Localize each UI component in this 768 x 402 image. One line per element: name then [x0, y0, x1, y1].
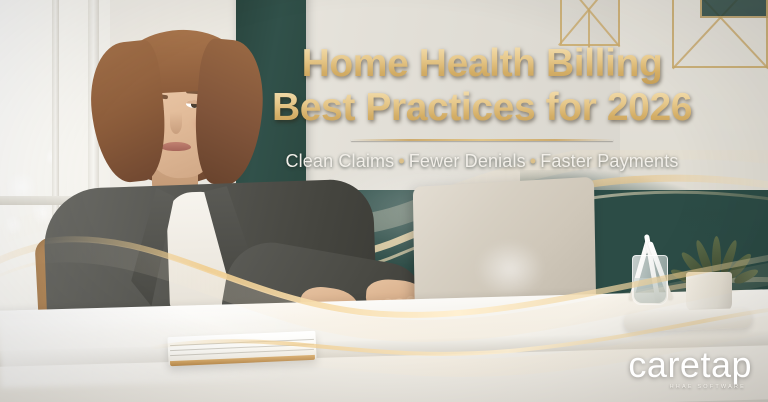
plant-leaf [712, 236, 721, 276]
headline-line-2: Best Practices for 2026 [272, 86, 692, 130]
marketing-banner: Home Health Billing Best Practices for 2… [0, 0, 768, 402]
gold-divider [351, 139, 613, 141]
nose [170, 112, 182, 134]
bokeh-light [2, 214, 24, 236]
subheadline-item-1: Clean Claims [285, 151, 394, 171]
subheadline: Clean Claims•Fewer Denials•Faster Paymen… [272, 151, 692, 172]
headline-block: Home Health Billing Best Practices for 2… [272, 42, 692, 172]
subheadline-item-2: Fewer Denials [409, 151, 526, 171]
headline-line-1: Home Health Billing [272, 42, 692, 86]
plant-pot [686, 272, 732, 312]
bullet-separator-icon: • [394, 151, 408, 171]
logo-wordmark: caretap [628, 347, 752, 383]
bullet-separator-icon: • [526, 151, 540, 171]
subheadline-item-3: Faster Payments [540, 151, 678, 171]
hair-right [190, 37, 268, 187]
lips [161, 142, 191, 151]
pen-jar-base [634, 278, 666, 303]
wall-art-teal-panel [700, 0, 768, 18]
caretap-logo[interactable]: caretap HHAE SOFTWARE [628, 347, 752, 390]
laptop-lid-highlight [475, 240, 545, 298]
